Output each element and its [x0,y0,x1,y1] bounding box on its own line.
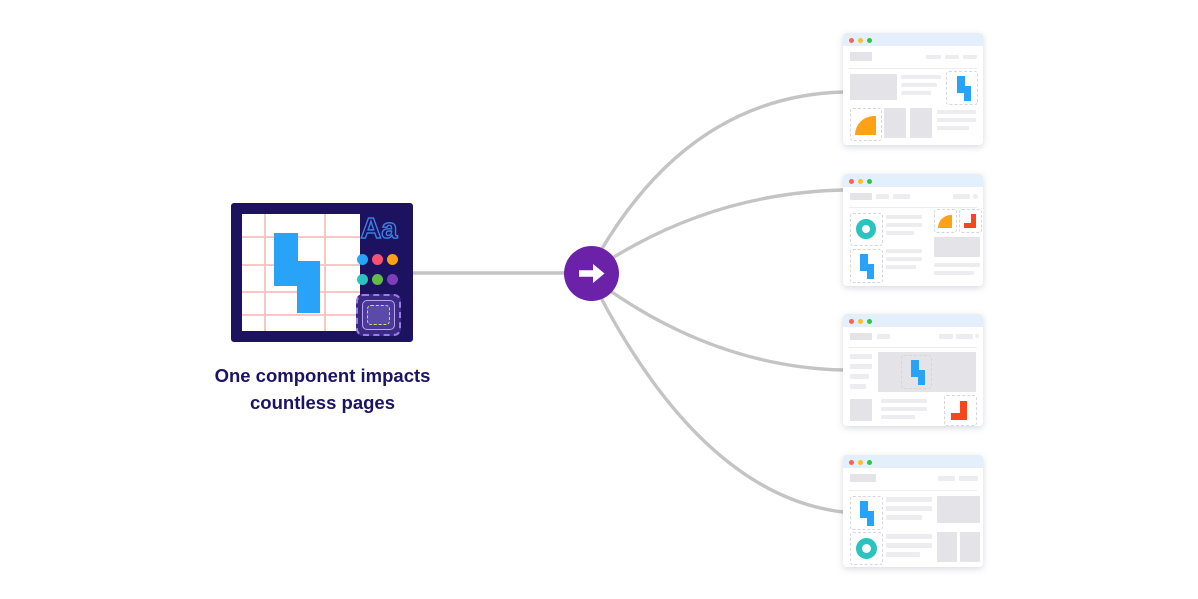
sidebar-link [850,374,869,379]
page-card-3[interactable] [843,314,983,426]
close-icon [849,38,854,43]
nav-item [939,334,953,339]
token-box-mid [362,300,395,330]
text-line [937,118,976,122]
maximize-icon [867,179,872,184]
sidebar-link [850,364,872,369]
card-body [843,46,983,145]
page-card-4[interactable] [843,455,983,567]
text-line [886,552,920,557]
component-canvas [242,214,360,331]
card-body [843,187,983,286]
nav-item [938,476,955,481]
minimize-icon [858,319,863,324]
ring-glyph [856,538,877,559]
nav-item [959,476,978,481]
text-line [934,271,974,275]
image-block [934,237,980,257]
maximize-icon [867,319,872,324]
text-line [901,91,931,95]
maximize-icon [867,460,872,465]
spacing-token-box[interactable] [356,294,401,336]
tile [910,108,932,138]
logo-block [850,52,872,61]
nav-item [877,334,890,339]
close-icon [849,179,854,184]
minimize-icon [858,38,863,43]
swatch-teal [357,274,368,285]
text-line [881,407,927,411]
nav-item [963,55,977,59]
card-title-bar [843,33,983,46]
distribution-hub[interactable] [564,246,619,301]
connector-hub-to-page-1 [600,92,843,252]
arrow-right-icon [579,263,605,284]
pie-chart [855,116,876,135]
text-line [886,231,914,235]
connector-hub-to-page-2 [606,190,843,262]
nav-item [953,194,970,199]
card-title-bar [843,174,983,187]
card-title-bar [843,314,983,327]
text-line [886,223,922,227]
swatch-orange [387,254,398,265]
nav-icon [973,194,978,199]
text-line [881,399,927,403]
text-line [901,75,941,79]
page-card-1[interactable] [843,33,983,145]
ring-glyph [856,219,876,239]
card-body [843,327,983,426]
card-title-bar [843,455,983,468]
text-line [937,110,976,114]
page-title: One component impacts countless pages [171,362,474,416]
component-slot [850,249,883,283]
swatch-purple [387,274,398,285]
token-box-core [367,305,390,325]
maximize-icon [867,38,872,43]
text-line [934,263,980,267]
minimize-icon [858,460,863,465]
text-line [886,506,932,511]
sidebar-link [850,354,872,359]
logo-block [850,333,872,340]
component-slot [850,496,883,530]
minimize-icon [858,179,863,184]
connector-hub-to-page-3 [606,288,843,370]
sidebar-link [850,384,866,389]
component-slot [946,71,978,105]
text-line [886,515,922,520]
typography-sample: Aa [354,214,404,244]
nav-item [926,55,941,59]
nav-icon [975,334,979,338]
logo-block [850,193,872,200]
pie-chart [938,215,952,228]
text-line [886,265,916,269]
card-body [843,468,983,567]
pie-chart-slot [850,108,882,141]
text-line [937,126,969,130]
tile [960,532,980,562]
color-swatches[interactable] [355,254,403,294]
page-card-2[interactable] [843,174,983,286]
tile [937,532,957,562]
text-line [901,83,937,87]
diagram-canvas: Aa One component impacts countless pages [0,0,1198,599]
ring-slot [850,532,883,565]
ring-slot [850,213,883,246]
connector-hub-to-page-4 [600,296,843,512]
pie-chart-slot [934,209,957,233]
text-line [886,215,922,219]
nav-item [876,194,889,199]
text-line [886,249,922,253]
close-icon [849,319,854,324]
nav-item [956,334,973,339]
component-slot [901,355,932,389]
component-panel[interactable]: Aa [231,203,413,342]
text-line [886,534,932,539]
text-line [886,497,932,502]
text-line [886,543,932,548]
l-shape-slot [944,395,977,426]
tile [850,399,872,421]
style-sidebar: Aa [354,212,404,343]
hero-image [850,74,897,100]
close-icon [849,460,854,465]
swatch-blue [357,254,368,265]
image-block [937,496,980,523]
text-line [881,415,915,419]
nav-item [893,194,910,199]
tile [884,108,906,138]
nav-item [945,55,959,59]
swatch-pink [372,254,383,265]
logo-block [850,474,876,482]
text-line [886,257,922,261]
l-shape-slot [959,209,982,233]
swatch-green [372,274,383,285]
